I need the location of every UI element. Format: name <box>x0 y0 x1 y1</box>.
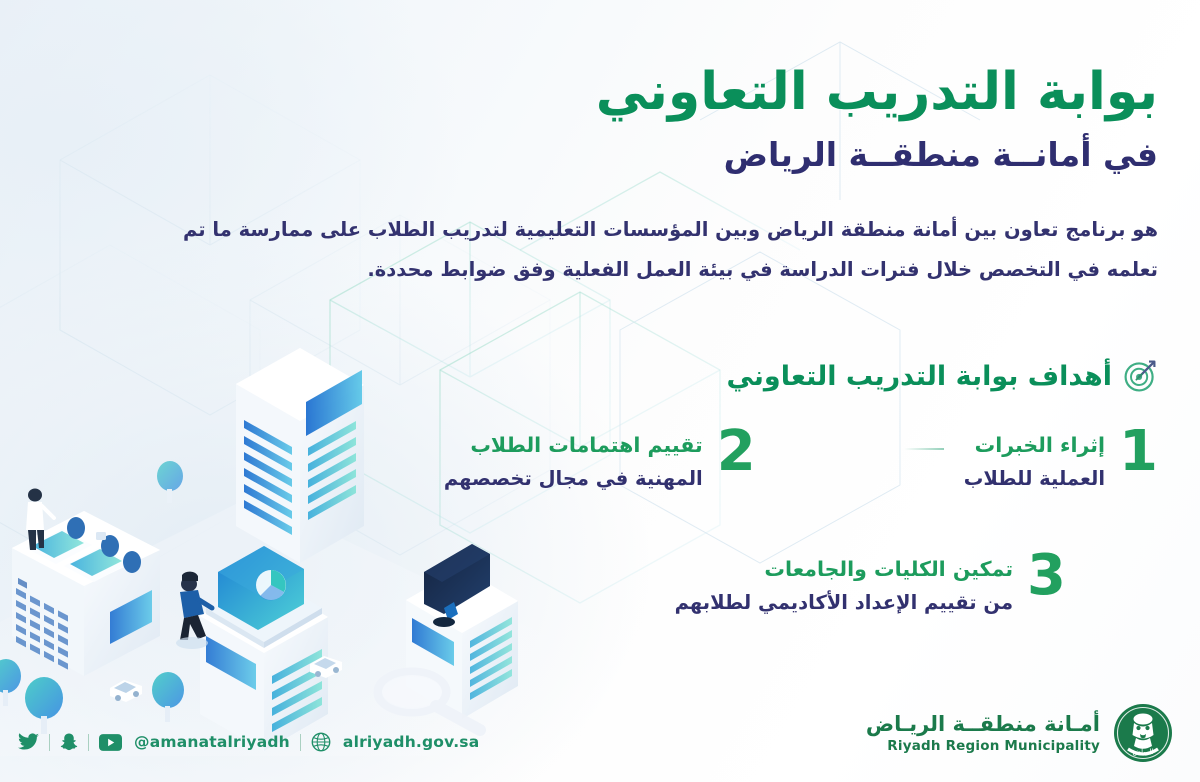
goal-number-1: 1 <box>1119 426 1158 478</box>
logo-english-name: Riyadh Region Municipality <box>866 738 1100 754</box>
twitter-icon[interactable] <box>18 733 39 751</box>
goal-item-3: 3 تمكين الكليات والجامعات من تقييم الإعد… <box>675 554 1066 616</box>
intro-paragraph: هو برنامج تعاون بين أمانة منطقة الرياض و… <box>173 210 1158 290</box>
goal-dash-1 <box>904 448 944 450</box>
social-separator-1 <box>49 734 50 751</box>
goal-number-3: 3 <box>1027 550 1066 602</box>
goals-list: 1 إثراء الخبرات العملية للطلاب 2 تقييم ا… <box>190 430 1200 616</box>
logo-arabic-name: أمـانة منطقــة الريـاض <box>866 712 1100 736</box>
cars <box>110 656 342 702</box>
svg-text:الرياض: الرياض <box>1132 747 1153 756</box>
goals-section: أهداف بوابة التدريب التعاوني 1 إثراء الخ… <box>190 358 1200 616</box>
goal-item-2: 2 تقييم اهتمامات الطلاب المهنية في مجال … <box>444 430 756 492</box>
municipality-logo: الرياض أمـانة منطقــة الريـاض Riyadh Reg… <box>866 702 1174 764</box>
goal-line1-2: تقييم اهتمامات الطلاب <box>444 432 703 460</box>
social-handle[interactable]: @amanatalriyadh <box>134 733 290 751</box>
magnifying-glass <box>378 672 480 730</box>
page-subtitle: في أمانــة منطقــة الرياض <box>190 135 1158 174</box>
goal-line2-3: من تقييم الإعداد الأكاديمي لطلابهم <box>675 590 1013 616</box>
snapchat-icon[interactable] <box>60 733 78 752</box>
trees <box>0 461 184 734</box>
goals-row-bottom: 3 تمكين الكليات والجامعات من تقييم الإعد… <box>190 554 1200 616</box>
goal-item-1: 1 إثراء الخبرات العملية للطلاب <box>904 430 1158 492</box>
goals-row-top: 1 إثراء الخبرات العملية للطلاب 2 تقييم ا… <box>190 430 1200 492</box>
goal-line1-1: إثراء الخبرات <box>964 432 1105 460</box>
website-url[interactable]: alriyadh.gov.sa <box>343 733 479 751</box>
goals-heading-row: أهداف بوابة التدريب التعاوني <box>190 358 1200 394</box>
social-separator-2 <box>88 734 89 751</box>
page-title: بوابة التدريب التعاوني <box>190 62 1158 123</box>
globe-icon[interactable] <box>311 732 331 752</box>
goals-heading-text: أهداف بوابة التدريب التعاوني <box>726 361 1112 392</box>
poster-canvas: بوابة التدريب التعاوني في أمانــة منطقــ… <box>0 0 1200 782</box>
riyadh-municipality-emblem-icon: الرياض <box>1112 702 1174 764</box>
goal-number-2: 2 <box>717 426 756 478</box>
social-separator-3 <box>300 734 301 751</box>
goal-line2-1: العملية للطلاب <box>964 466 1105 492</box>
office-building-with-desks <box>12 489 160 677</box>
standing-person <box>26 489 54 551</box>
goal-line2-2: المهنية في مجال تخصصهم <box>444 466 703 492</box>
youtube-icon[interactable] <box>99 734 122 751</box>
social-bar: @amanatalriyadh alriyadh.gov.sa <box>18 732 479 752</box>
target-dart-icon <box>1122 358 1158 394</box>
goal-line1-3: تمكين الكليات والجامعات <box>675 556 1013 584</box>
headline-block: بوابة التدريب التعاوني في أمانــة منطقــ… <box>190 0 1200 290</box>
